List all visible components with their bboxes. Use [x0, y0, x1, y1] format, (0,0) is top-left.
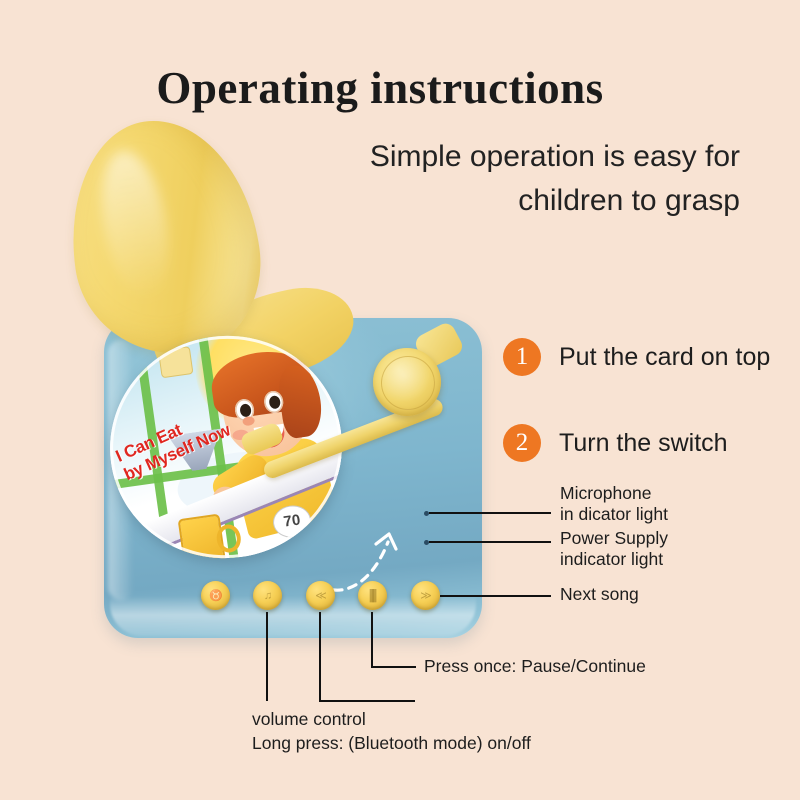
gramophone-device: I Can Eat by Myself Now 70 ♉ ♫ ≪ [82, 300, 502, 645]
callout-volume: volume control Long press: (Bluetooth mo… [252, 708, 531, 755]
callout-volume-line-2: Long press: (Bluetooth mode) on/off [252, 732, 531, 756]
instruction-poster: Operating instructions Simple operation … [0, 0, 800, 800]
page-title: Operating instructions [0, 62, 800, 114]
knob-inner-ring [381, 356, 435, 410]
step-2-label: Turn the switch [559, 429, 728, 458]
leader-line-microphone [429, 512, 551, 514]
callout-next-song: Next song [560, 584, 639, 605]
leader-line-previous-horizontal [319, 700, 415, 702]
callout-power-line-2: indicator light [560, 549, 668, 570]
previous-song-button[interactable]: ≪ [306, 581, 335, 610]
leader-line-previous-vertical [319, 612, 321, 701]
step-1-label: Put the card on top [559, 343, 770, 372]
previous-track-icon: ≪ [306, 581, 335, 610]
volume-bluetooth-button[interactable]: ♫ [253, 581, 282, 610]
music-note-icon: ♫ [253, 581, 282, 610]
next-song-button[interactable]: ≫ [411, 581, 440, 610]
next-track-icon: ≫ [411, 581, 440, 610]
callout-microphone: Microphone in dicator light [560, 483, 668, 526]
play-pause-button[interactable]: ▐▌ [358, 581, 387, 610]
page-subtitle: Simple operation is easy for children to… [180, 135, 740, 222]
step-2-badge: 2 [503, 424, 541, 462]
callout-power-line-1: Power Supply [560, 528, 668, 549]
microphone-button[interactable]: ♉ [201, 581, 230, 610]
step-2: 2 Turn the switch [503, 424, 728, 462]
subtitle-line-2: children to grasp [180, 179, 740, 223]
leader-line-pause-horizontal [371, 666, 416, 668]
callout-volume-line-1: volume control [252, 708, 531, 732]
pause-icon: ▐▌ [358, 581, 387, 610]
step-1: 1 Put the card on top [503, 338, 770, 376]
callout-pause: Press once: Pause/Continue [424, 656, 646, 677]
leader-line-volume-vertical [266, 612, 268, 701]
leader-line-next-song [440, 595, 551, 597]
leader-line-power [429, 541, 551, 543]
rotary-switch-knob[interactable] [373, 348, 441, 416]
microphone-icon: ♉ [201, 581, 230, 610]
callout-microphone-line-2: in dicator light [560, 504, 668, 525]
callout-microphone-line-1: Microphone [560, 483, 668, 504]
callout-power: Power Supply indicator light [560, 528, 668, 571]
subtitle-line-1: Simple operation is easy for [180, 135, 740, 179]
leader-line-pause-vertical [371, 612, 373, 667]
step-1-badge: 1 [503, 338, 541, 376]
